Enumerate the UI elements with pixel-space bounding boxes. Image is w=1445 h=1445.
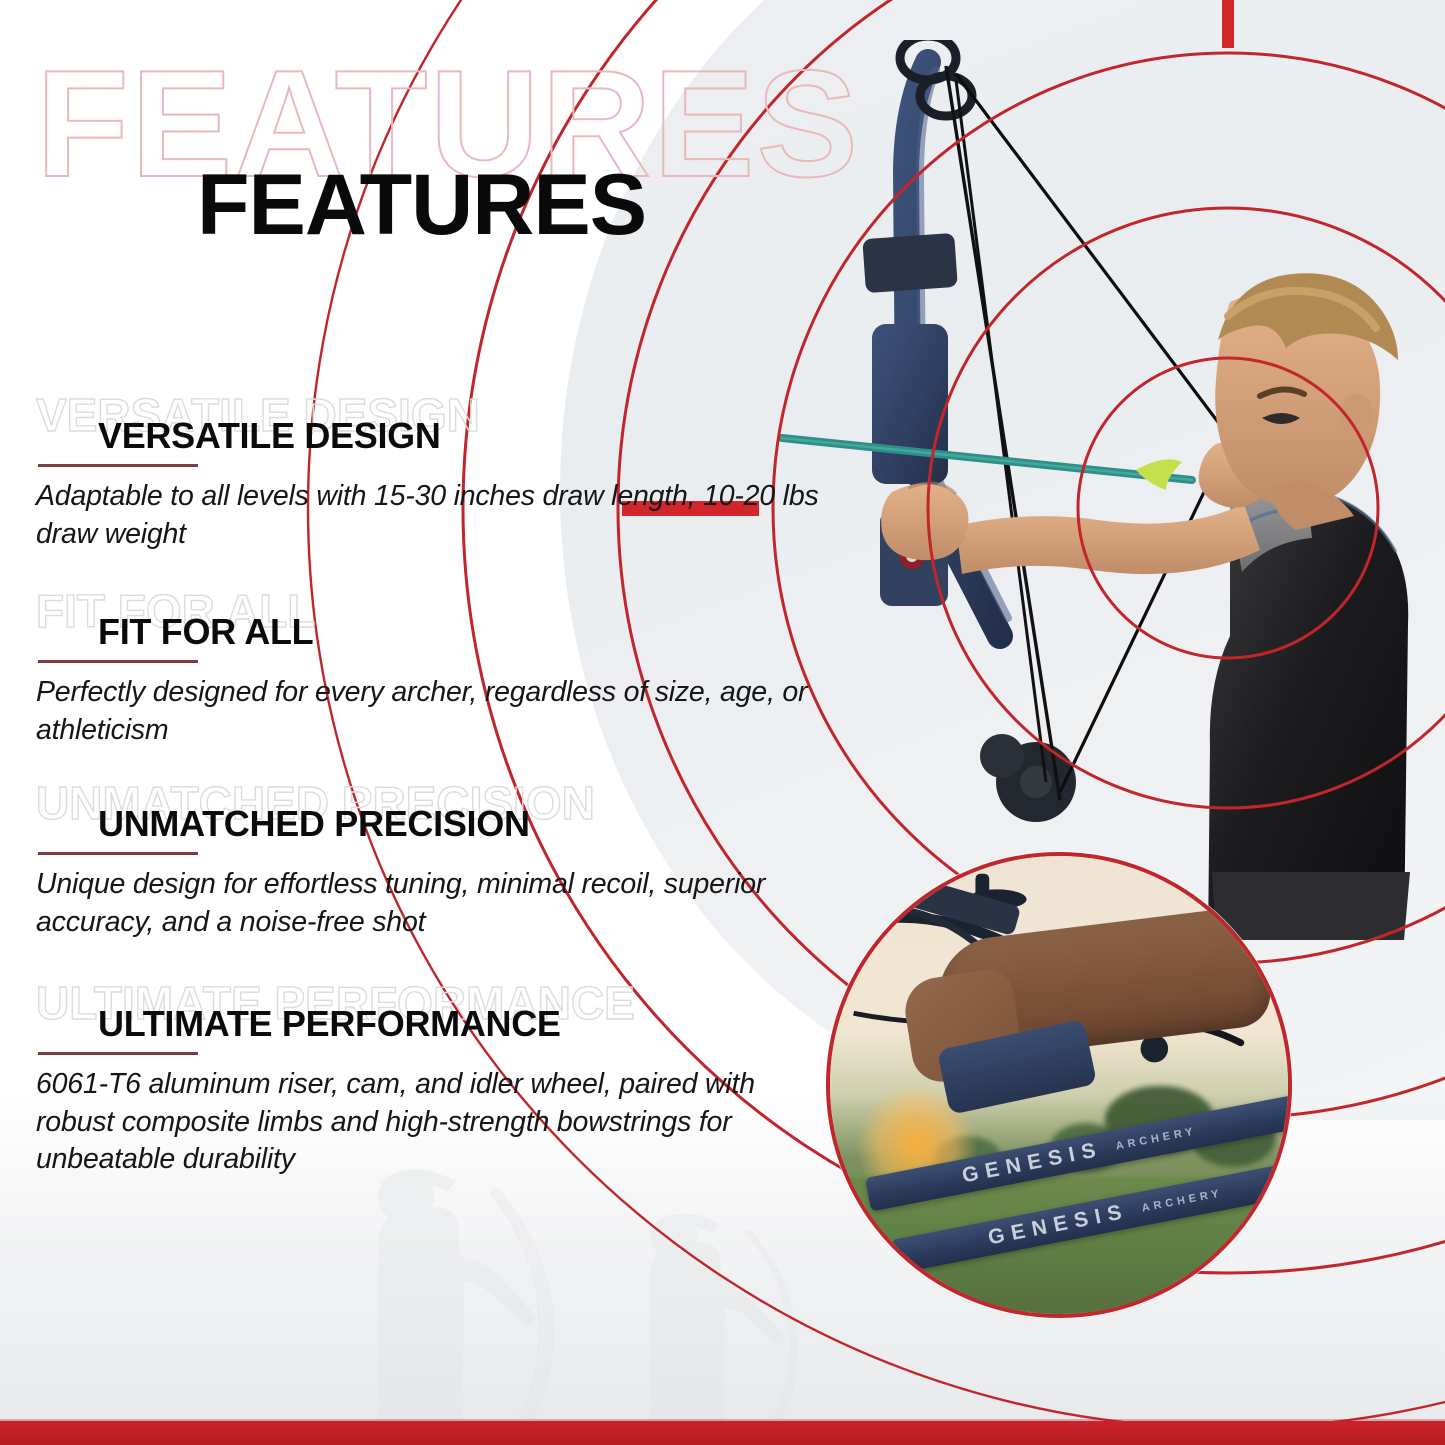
feature-body: Perfectly designed for every archer, reg…	[36, 674, 826, 749]
feature-heading: UNMATCHED PRECISION	[98, 780, 826, 842]
feature-underline	[38, 464, 198, 467]
feature-underline	[38, 660, 198, 663]
feature-heading: ULTIMATE PERFORMANCE	[98, 980, 826, 1042]
feature-body: 6061-T6 aluminum riser, cam, and idler w…	[36, 1066, 826, 1179]
feature-underline	[38, 852, 198, 855]
feature-block-fit-for-all: FIT FOR ALL FIT FOR ALL Perfectly design…	[36, 588, 826, 749]
infographic-canvas: FEATURES FEATURES VERSATILE DESIGN VERSA…	[0, 0, 1445, 1445]
feature-block-unmatched-precision: UNMATCHED PRECISION UNMATCHED PRECISION …	[36, 780, 826, 941]
bottom-accent-bar	[0, 1421, 1445, 1445]
feature-heading: VERSATILE DESIGN	[98, 392, 826, 454]
hero-archer-photo	[760, 40, 1445, 940]
feature-block-ultimate-performance: ULTIMATE PERFORMANCE ULTIMATE PERFORMANC…	[36, 980, 826, 1179]
feature-block-versatile-design: VERSATILE DESIGN VERSATILE DESIGN Adapta…	[36, 392, 826, 553]
feature-underline	[38, 1052, 198, 1055]
brand-sublabel: ARCHERY	[1141, 1187, 1224, 1214]
feature-body: Unique design for effortless tuning, min…	[36, 866, 826, 941]
page-title: FEATURES	[197, 162, 646, 248]
brand-sublabel: ARCHERY	[1115, 1125, 1198, 1152]
feature-heading: FIT FOR ALL	[98, 588, 826, 650]
crosshair-tick-top-icon	[1222, 0, 1234, 48]
feature-body: Adaptable to all levels with 15-30 inche…	[36, 478, 826, 553]
inset-photo-bow-detail: GENESIS ARCHERY GENESIS ARCHERY	[826, 852, 1292, 1318]
